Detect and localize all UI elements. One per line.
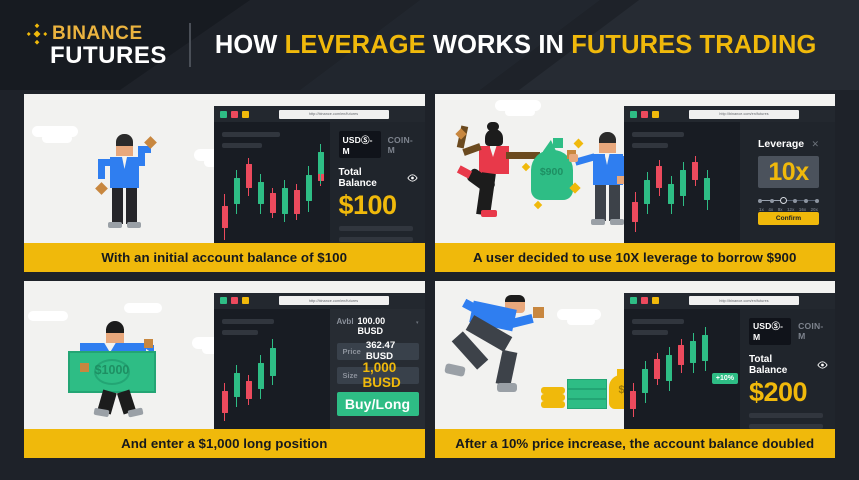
total-balance-row: Total Balance <box>749 354 828 376</box>
money-bag-label: $900 <box>531 166 573 178</box>
title-segment-2: WORKS IN <box>426 31 572 59</box>
tab-coin-m[interactable]: COIN-M <box>388 135 418 155</box>
size-value: 1,000 BUSD <box>363 360 413 390</box>
order-sidepanel: Avbl 100.00 BUSD ▾ Price 362.47 BUSD Siz… <box>330 309 425 430</box>
title-highlight-leverage: LEVERAGE <box>285 31 426 59</box>
panel-4-scene: $ http://binance.com/en/futures <box>435 281 836 430</box>
confirm-button[interactable]: Confirm <box>758 212 819 224</box>
diamond-decor <box>95 182 108 195</box>
skeleton-line <box>339 226 413 231</box>
panel-1-caption: With an initial account balance of $100 <box>24 243 425 272</box>
tab-coin-m[interactable]: COIN-M <box>798 321 828 341</box>
browser-window: http://binance.com/en/futures <box>214 293 425 430</box>
browser-window: http://binance.com/en/futures <box>624 106 835 243</box>
url-text: http://binance.com/en/futures <box>309 299 358 303</box>
slider-knob[interactable] <box>780 197 787 204</box>
total-balance-row: Total Balance <box>339 167 418 189</box>
eye-icon[interactable] <box>817 361 828 369</box>
window-dot-green[interactable] <box>220 111 227 118</box>
window-dot-green[interactable] <box>630 297 637 304</box>
window-dot-red[interactable] <box>641 297 648 304</box>
panel-grid: http://binance.com/en/futures <box>0 90 859 480</box>
window-dot-red[interactable] <box>231 111 238 118</box>
slider-tick[interactable] <box>804 199 808 203</box>
diamond-decor <box>573 139 583 149</box>
cloud-decor <box>42 134 72 143</box>
browser-titlebar: http://binance.com/en/futures <box>214 293 425 309</box>
title-segment-1: HOW <box>215 31 285 59</box>
leverage-value-box[interactable]: 10x <box>758 156 819 188</box>
money-pile-illustration: $ <box>541 367 637 415</box>
browser-content: USDⓈ-M COIN-M Total Balance $100 <box>214 122 425 243</box>
url-text: http://binance.com/en/futures <box>719 299 768 303</box>
leverage-dialog: Leverage ✕ 10x <box>749 130 828 235</box>
available-balance-row: Avbl 100.00 BUSD ▾ <box>337 316 419 336</box>
cloud-decor <box>567 317 595 325</box>
panel-2-scene: $900 <box>435 94 836 243</box>
size-label: Size <box>343 371 358 380</box>
window-dot-yellow[interactable] <box>242 297 249 304</box>
panel-3-caption: And enter a $1,000 long position <box>24 429 425 458</box>
avbl-value: 100.00 BUSD <box>358 316 412 336</box>
address-bar[interactable]: http://binance.com/en/futures <box>279 296 389 305</box>
window-dot-red[interactable] <box>641 111 648 118</box>
character-illustration <box>96 134 158 234</box>
panel-4: $ http://binance.com/en/futures <box>435 281 836 459</box>
skeleton-line <box>749 424 823 429</box>
panel-3: $1000 http://binance.com/en/futures <box>24 281 425 459</box>
browser-window: http://binance.com/en/futures <box>214 106 425 243</box>
address-bar[interactable]: http://binance.com/en/futures <box>689 110 799 119</box>
panel-2-caption: A user decided to use 10X leverage to bo… <box>435 243 836 272</box>
slider-tick[interactable] <box>758 199 762 203</box>
slider-tick[interactable] <box>793 199 797 203</box>
title-highlight-futures-trading: FUTURES TRADING <box>571 31 816 59</box>
balance-sidepanel: USDⓈ-M COIN-M Total Balance $100 <box>330 122 425 243</box>
browser-content: Leverage ✕ 10x <box>624 122 835 243</box>
avbl-label: Avbl <box>337 317 354 326</box>
running-character-illustration <box>445 293 555 398</box>
url-text: http://binance.com/en/futures <box>719 112 768 116</box>
browser-titlebar: http://binance.com/en/futures <box>214 106 425 122</box>
panel-4-caption: After a 10% price increase, the account … <box>435 429 836 458</box>
candlestick-chart <box>624 122 740 243</box>
total-balance-label: Total Balance <box>749 354 813 376</box>
cloud-decor <box>124 303 162 313</box>
candlestick-chart: +10% <box>624 309 740 430</box>
margin-mode-tabs: USDⓈ-M COIN-M <box>339 131 418 158</box>
browser-content: +10% USDⓈ-M COIN-M Total Balance <box>624 309 835 430</box>
cloud-decor <box>505 108 535 116</box>
panel-1-scene: http://binance.com/en/futures <box>24 94 425 243</box>
panel-3-scene: $1000 http://binance.com/en/futures <box>24 281 425 430</box>
logo-brand-text: BINANCE <box>52 24 143 44</box>
diamond-decor <box>533 201 541 209</box>
window-dot-green[interactable] <box>630 111 637 118</box>
tab-usd-m[interactable]: USDⓈ-M <box>339 131 381 158</box>
url-text: http://binance.com/en/futures <box>309 112 358 116</box>
close-icon[interactable]: ✕ <box>811 140 819 149</box>
binance-futures-logo: BINANCE FUTURES <box>26 23 167 68</box>
total-balance-label: Total Balance <box>339 167 403 189</box>
header-divider <box>189 23 191 67</box>
window-dot-yellow[interactable] <box>652 297 659 304</box>
size-field[interactable]: Size 1,000 BUSD <box>337 367 419 384</box>
price-value: 362.47 BUSD <box>366 340 413 362</box>
page-title: HOW LEVERAGE WORKS IN FUTURES TRADING <box>215 31 817 60</box>
browser-titlebar: http://binance.com/en/futures <box>624 106 835 122</box>
leverage-value: 10x <box>768 160 808 185</box>
price-change-badge: +10% <box>712 373 738 384</box>
panel-1: http://binance.com/en/futures <box>24 94 425 272</box>
total-balance-value: $200 <box>749 377 828 407</box>
diamond-decor <box>521 163 529 171</box>
window-dot-green[interactable] <box>220 297 227 304</box>
candlestick-chart <box>214 309 330 430</box>
leverage-dialog-header: Leverage ✕ <box>758 138 819 150</box>
window-dot-red[interactable] <box>231 297 238 304</box>
leverage-title: Leverage <box>758 138 804 150</box>
browser-window: http://binance.com/en/futures + <box>624 293 835 430</box>
slider-tick[interactable] <box>815 199 819 203</box>
page-header: BINANCE FUTURES HOW LEVERAGE WORKS IN FU… <box>0 0 859 90</box>
browser-content: Avbl 100.00 BUSD ▾ Price 362.47 BUSD Siz… <box>214 309 425 430</box>
slider-tick[interactable] <box>770 199 774 203</box>
window-dot-yellow[interactable] <box>652 111 659 118</box>
price-label: Price <box>343 347 361 356</box>
address-bar[interactable]: http://binance.com/en/futures <box>689 296 799 305</box>
candlestick-chart <box>214 122 330 243</box>
leverage-sidepanel: Leverage ✕ 10x <box>740 122 835 243</box>
skeleton-line <box>749 413 823 418</box>
tab-usd-m[interactable]: USDⓈ-M <box>749 318 791 345</box>
panel-2: $900 <box>435 94 836 272</box>
balance-sidepanel: USDⓈ-M COIN-M Total Balance $200 <box>740 309 835 430</box>
window-dot-yellow[interactable] <box>242 111 249 118</box>
skeleton-line <box>339 237 413 242</box>
total-balance-value: $100 <box>339 190 418 220</box>
leverage-slider[interactable] <box>758 197 819 204</box>
browser-titlebar: http://binance.com/en/futures <box>624 293 835 309</box>
order-form: Avbl 100.00 BUSD ▾ Price 362.47 BUSD Siz… <box>337 316 419 424</box>
chevron-down-icon[interactable]: ▾ <box>416 320 419 326</box>
cloud-decor <box>28 311 68 321</box>
character-with-banknote: $1000 <box>58 321 178 416</box>
binance-diamond-icon <box>26 23 48 45</box>
margin-mode-tabs: USDⓈ-M COIN-M <box>749 318 828 345</box>
price-field[interactable]: Price 362.47 BUSD <box>337 343 419 360</box>
buy-long-button[interactable]: Buy/Long <box>337 392 419 416</box>
money-bag-900: $900 <box>523 136 581 208</box>
logo-product-text: FUTURES <box>50 43 167 68</box>
address-bar[interactable]: http://binance.com/en/futures <box>279 110 389 119</box>
eye-icon[interactable] <box>407 174 418 182</box>
